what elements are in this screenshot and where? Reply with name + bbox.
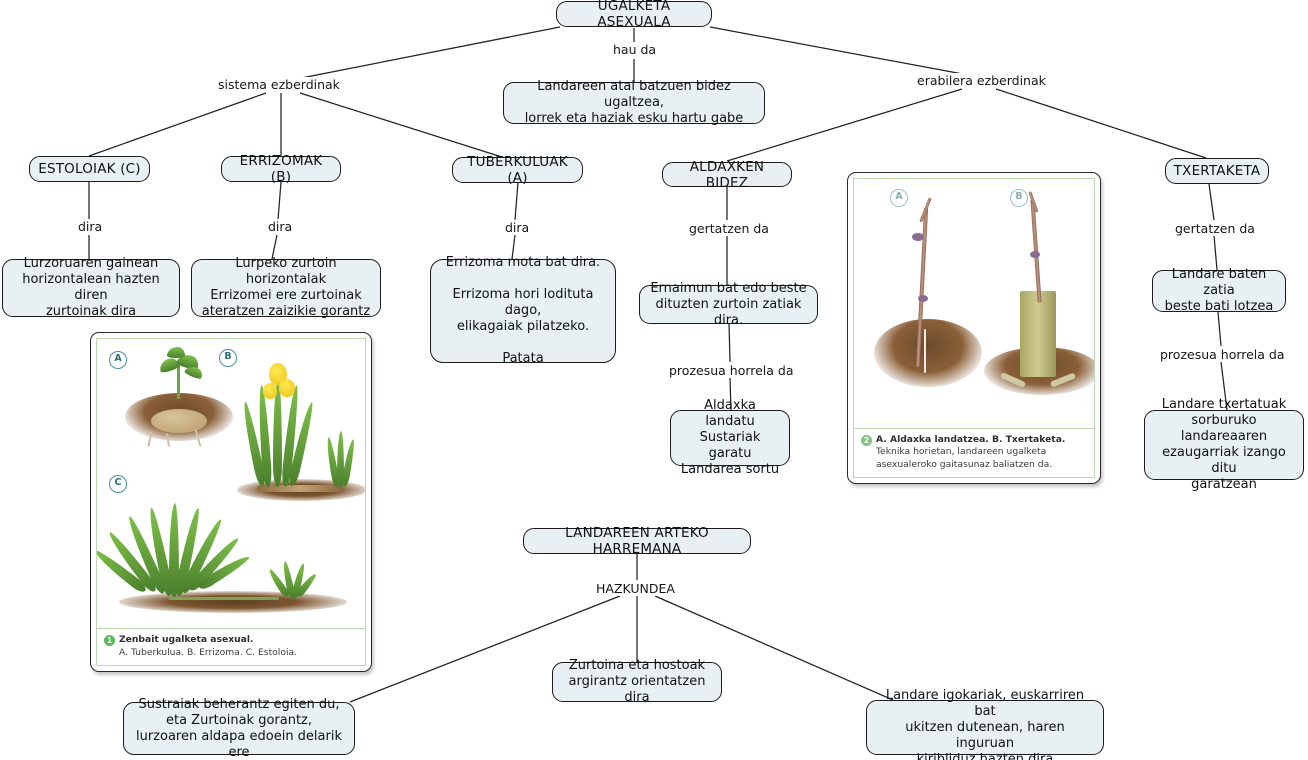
node-aldaxken-bidez[interactable]: ALDAXKEN BIDEZ — [662, 162, 792, 187]
edge-label-gertatzen-da-aldaxken: gertatzen da — [686, 221, 772, 236]
panel-left-caption: 1Zenbait ugalketa asexual. A. Tuberkulua… — [97, 628, 365, 665]
node-errizomak[interactable]: ERRIZOMAK (B) — [221, 156, 341, 182]
iris-flower-3 — [263, 383, 277, 399]
node-txertaketa[interactable]: TXERTAKETA — [1165, 158, 1269, 184]
illustration-panel-right: A B 2A. Aldaxka landatzea. B. T — [847, 172, 1101, 484]
panel-left-inner: A B — [96, 338, 366, 666]
panel-right-badge-b: B — [1010, 189, 1028, 207]
panel-left-caption-line1: 1Zenbait ugalketa asexual. — [104, 634, 358, 647]
node-tuberkuluak[interactable]: TUBERKULUAK (A) — [452, 157, 583, 183]
node-tuberkuluak-definition[interactable]: Errizoma mota bat dira. Errizoma hori lo… — [430, 259, 616, 363]
panel-right-artwork: A B — [854, 179, 1094, 428]
cutting-bud-1 — [912, 233, 924, 241]
node-estoloiak-definition[interactable]: Lurzoruaren gainean horizontalean hazten… — [2, 259, 180, 317]
cutting-slit — [924, 329, 926, 373]
panel-left-badge-a: A — [109, 351, 127, 369]
soil-strip-c — [119, 591, 347, 613]
edge-label-dira-tuberkuluak: dira — [502, 220, 532, 235]
node-estoloiak[interactable]: ESTOLOIAK (C) — [29, 156, 150, 182]
edge-label-hazkundea: HAZKUNDEA — [593, 581, 678, 596]
panel-right-caption-title: A. Aldaxka landatzea. B. Txertaketa. — [876, 434, 1065, 445]
panel-right-badge-a: A — [890, 189, 908, 207]
panel-left-caption-line2: A. Tuberkulua. B. Errizoma. C. Estoloia. — [104, 647, 358, 660]
node-harremana-right[interactable]: Landare igokariak, euskarriren bat ukitz… — [866, 700, 1104, 755]
edge-label-hau-da: hau da — [610, 42, 659, 57]
caption-bullet-icon: 1 — [104, 635, 115, 646]
edge-label-sistema-ezberdinak: sistema ezberdinak — [215, 77, 343, 92]
stem-a — [177, 365, 180, 399]
panel-right-caption-line1: 2A. Aldaxka landatzea. B. Txertaketa. — [861, 434, 1087, 447]
edge-label-prozesua-txertaketa: prozesua horrela da — [1157, 347, 1288, 362]
concept-map-canvas: UGALKETA ASEXUALA hau da Landareen atal … — [0, 0, 1308, 760]
edge-label-dira-errizomak: dira — [265, 219, 295, 234]
stolon-runner — [169, 597, 279, 600]
edge-label-gertatzen-da-txertaketa: gertatzen da — [1172, 221, 1258, 236]
tuber-shape — [151, 409, 207, 433]
panel-left-caption-title: Zenbait ugalketa asexual. — [119, 634, 254, 645]
node-harremana-left[interactable]: Sustraiak beherantz egiten du, eta Zurto… — [123, 702, 355, 755]
node-aldaxken-definition[interactable]: Ernaimun bat edo beste dituzten zurtoin … — [639, 285, 818, 324]
rhizome-b — [257, 485, 343, 492]
node-definition[interactable]: Landareen atal batzuen bidez ugaltzea, l… — [503, 82, 765, 124]
cutting-bud-2 — [918, 295, 928, 302]
iris-flower-2 — [279, 379, 295, 397]
illustration-panel-left: A B — [90, 332, 372, 672]
caption-bullet-icon-right: 2 — [861, 435, 872, 446]
edge-label-dira-estoloiak: dira — [75, 219, 105, 234]
rootstock-stem — [1020, 291, 1056, 377]
node-txertaketa-process[interactable]: Landare txertatuak sorburuko landareaare… — [1144, 410, 1304, 480]
node-errizomak-definition[interactable]: Lurpeko zurtoin horizontalak Errizomei e… — [191, 259, 381, 317]
node-txertaketa-definition[interactable]: Landare baten zatia beste bati lotzea — [1152, 270, 1286, 312]
panel-right-caption: 2A. Aldaxka landatzea. B. Txertaketa. Te… — [854, 428, 1094, 478]
panel-left-badge-c: C — [109, 475, 127, 493]
node-harremana[interactable]: LANDAREEN ARTEKO HARREMANA — [523, 528, 751, 554]
panel-right-caption-line3: asexualeroko gaitasunaz baliatzen da. — [861, 459, 1087, 472]
edge-label-erabilera-ezberdinak: erabilera ezberdinak — [914, 73, 1049, 88]
leaf-a3 — [167, 347, 185, 358]
panel-right-inner: A B 2A. Aldaxka landatzea. B. T — [853, 178, 1095, 478]
node-harremana-center[interactable]: Zurtoina eta hostoak argirantz orientatz… — [552, 662, 722, 702]
scion-bud — [1030, 251, 1040, 258]
panel-right-caption-line2: Teknika horietan, landareen ugalketa — [861, 446, 1087, 459]
panel-left-badge-b: B — [219, 349, 237, 367]
edge-label-prozesua-aldaxken: prozesua horrela da — [666, 363, 797, 378]
node-root[interactable]: UGALKETA ASEXUALA — [556, 1, 712, 27]
soil-mound-cutting — [874, 319, 982, 387]
node-aldaxken-process[interactable]: Aldaxka landatu Sustariak garatu Landare… — [670, 410, 790, 466]
panel-left-artwork: A B — [97, 339, 365, 628]
